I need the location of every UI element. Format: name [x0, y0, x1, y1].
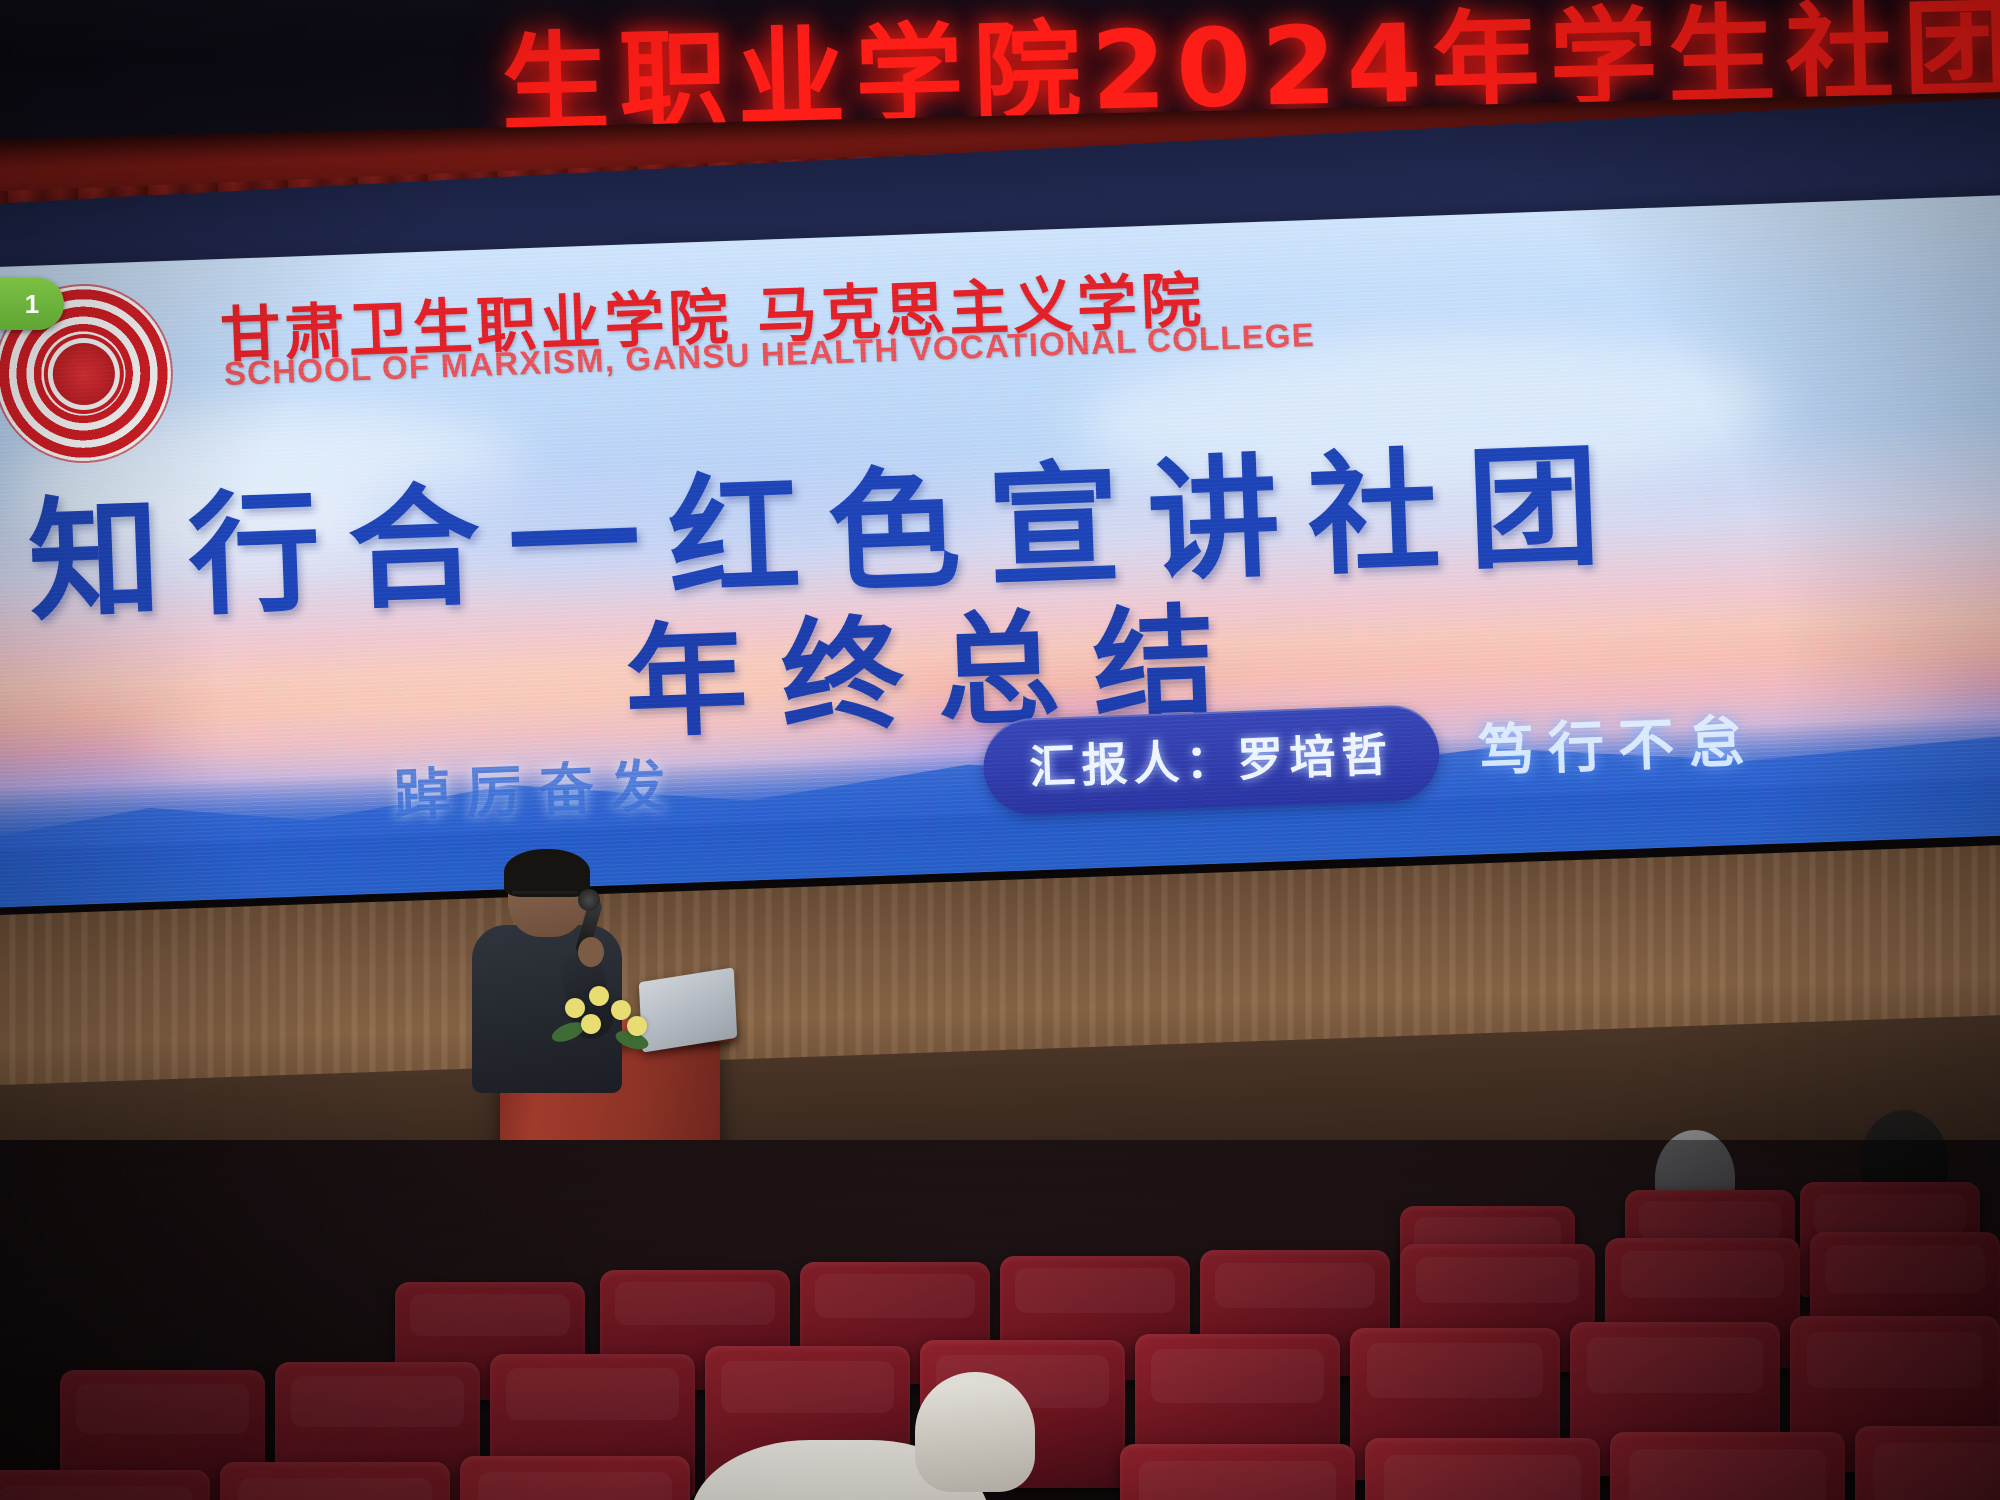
- flower-petal: [611, 1000, 631, 1020]
- audience-seat: [1365, 1438, 1600, 1500]
- flower-petal: [565, 998, 585, 1018]
- seal-center: [51, 341, 115, 405]
- auditorium-photo: 生职业学院2024年学生社团 1 甘肃卫生职业学院 马克思主义学院 SCHO: [0, 0, 2000, 1500]
- flower-arrangement: [545, 980, 675, 1070]
- audience-seating: [0, 1140, 2000, 1500]
- slide-canvas: 甘肃卫生职业学院 马克思主义学院 SCHOOL OF MARXISM, GANS…: [0, 194, 2000, 907]
- flower-petal: [627, 1016, 647, 1036]
- audience-seat: [1120, 1444, 1355, 1500]
- presenter-glasses: [512, 891, 578, 908]
- decorative-text-left: 踔厉奋发: [393, 741, 684, 832]
- audience-seat: [220, 1462, 450, 1500]
- flower-petal: [589, 986, 609, 1006]
- microphone-head: [578, 889, 600, 911]
- led-presentation-screen: 甘肃卫生职业学院 马克思主义学院 SCHOOL OF MARXISM, GANS…: [0, 194, 2000, 907]
- audience-seat: [1855, 1426, 2000, 1500]
- audience-seat: [460, 1456, 690, 1500]
- flower-petal: [581, 1014, 601, 1034]
- presenter-hand: [578, 937, 604, 967]
- decorative-text-right: 笃行不怠: [1477, 696, 1760, 787]
- audience-seat: [1610, 1432, 1845, 1500]
- presenter-hair: [504, 849, 590, 897]
- speaker-badge: 汇报人：罗培哲: [982, 704, 1441, 816]
- page-number-marker: 1: [0, 278, 64, 330]
- foreground-person-hood: [915, 1372, 1035, 1492]
- audience-seat: [0, 1470, 210, 1500]
